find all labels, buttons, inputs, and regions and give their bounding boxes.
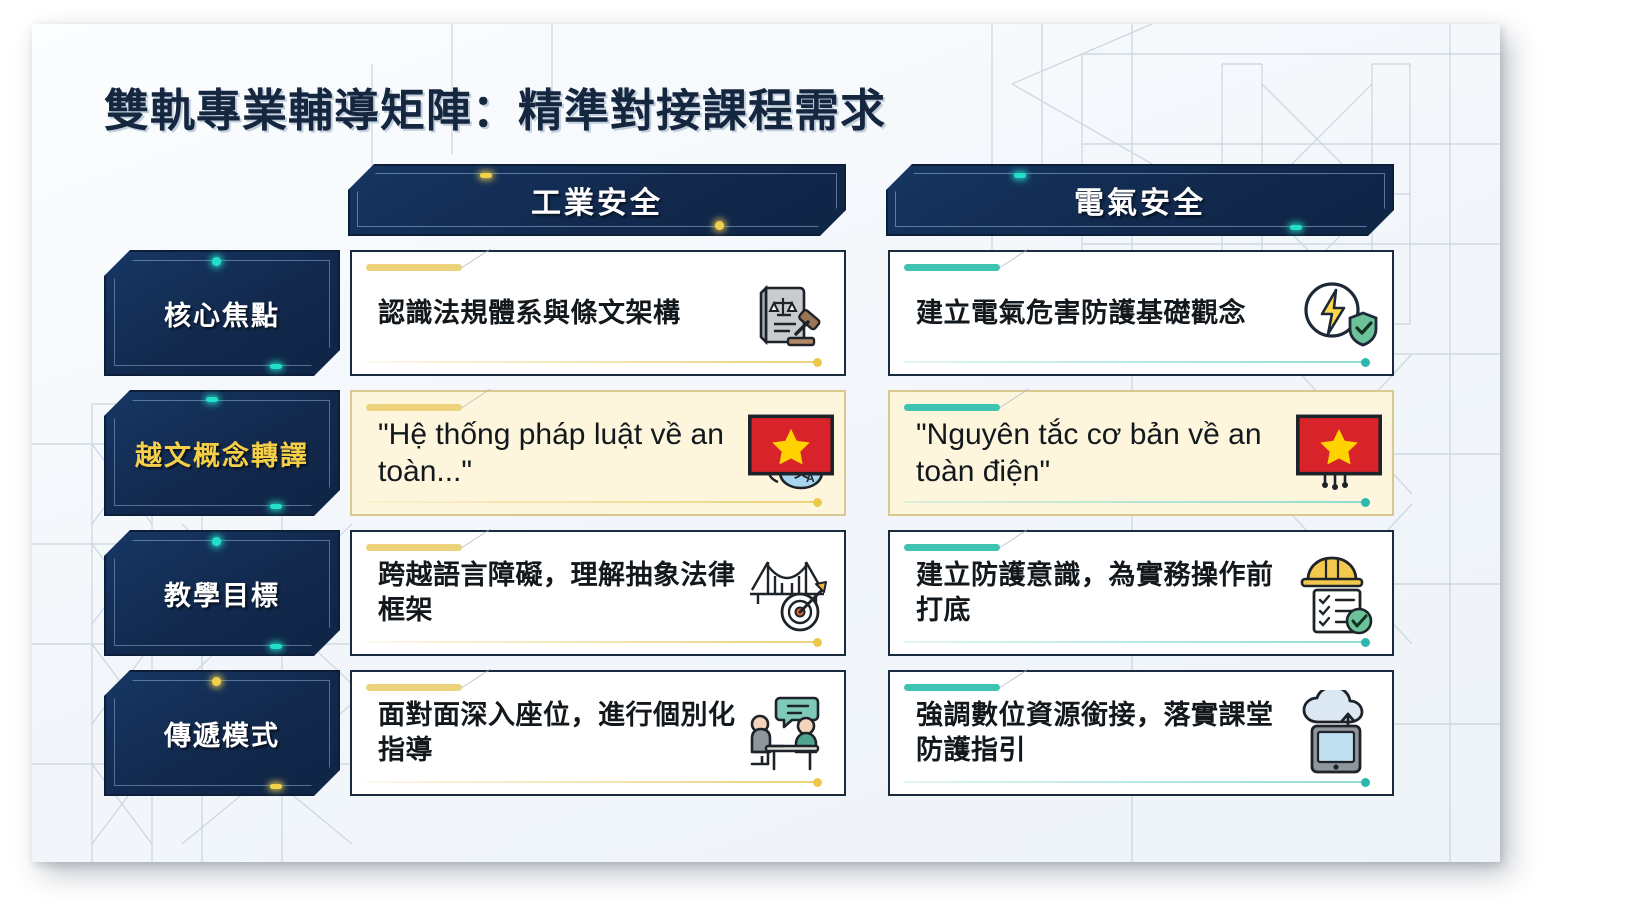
cell-text: 強調數位資源銜接，落實課堂防護指引	[916, 698, 1292, 767]
column-header-industrial-safety[interactable]: 工業安全	[348, 164, 846, 236]
accent-dot-teal	[1290, 225, 1302, 230]
row-label-teaching-goal[interactable]: 教學目標	[104, 530, 340, 656]
accent-dot-gold	[270, 784, 282, 789]
cell-core-focus-electrical[interactable]: 建立電氣危害防護基礎觀念	[888, 250, 1394, 376]
accent-dot-teal	[212, 257, 221, 266]
cell-text: 面對面深入座位，進行個別化指導	[378, 698, 744, 767]
accent-dot-teal	[270, 644, 282, 649]
row-label-text: 傳遞模式	[164, 714, 280, 753]
cell-underline	[904, 641, 1366, 643]
cell-delivery-mode-electrical[interactable]: 強調數位資源銜接，落實課堂防護指引	[888, 670, 1394, 796]
bridge-target-icon	[744, 550, 830, 636]
accent-dot-teal	[206, 397, 218, 402]
accent-dot-teal	[270, 504, 282, 509]
vietnam-flag-icon	[748, 402, 834, 488]
cell-accent-bar	[904, 404, 1000, 411]
cell-text: "Hệ thống pháp luật về an toàn..."	[378, 416, 744, 491]
cell-teaching-goal-industrial[interactable]: 跨越語言障礙，理解抽象法律框架	[350, 530, 846, 656]
row-label-text: 越文概念轉譯	[135, 434, 309, 473]
row-label-core-focus[interactable]: 核心焦點	[104, 250, 340, 376]
cell-delivery-mode-industrial[interactable]: 面對面深入座位，進行個別化指導	[350, 670, 846, 796]
row-label-delivery-mode[interactable]: 傳遞模式	[104, 670, 340, 796]
cell-text: 建立防護意識，為實務操作前打底	[916, 558, 1292, 627]
cell-vietnamese-electrical[interactable]: "Nguyên tắc cơ bản về an toàn điện"	[888, 390, 1394, 516]
cell-text: "Nguyên tắc cơ bản về an toàn điện"	[916, 416, 1292, 491]
law-book-gavel-icon	[744, 270, 830, 356]
cloud-tablet-icon	[1292, 690, 1378, 776]
column-header-label: 電氣安全	[1074, 178, 1206, 222]
cell-text: 認識法規體系與條文架構	[378, 296, 744, 331]
slide-canvas: 雙軌專業輔導矩陣：精準對接課程需求 工業安全 電氣安全 核心焦點 認識法規體系與…	[0, 0, 1628, 919]
row-label-text: 教學目標	[164, 574, 280, 613]
cell-teaching-goal-electrical[interactable]: 建立防護意識，為實務操作前打底	[888, 530, 1394, 656]
accent-dot-gold	[212, 677, 221, 686]
cell-accent-bar	[366, 684, 462, 691]
accent-dot-gold	[480, 173, 492, 178]
vietnam-flag-icon	[1296, 402, 1382, 488]
translate-bubbles-icon: 文 A	[744, 410, 830, 496]
slide-surface: 雙軌專業輔導矩陣：精準對接課程需求 工業安全 電氣安全 核心焦點 認識法規體系與…	[32, 24, 1500, 862]
cell-core-focus-industrial[interactable]: 認識法規體系與條文架構	[350, 250, 846, 376]
cell-underline	[366, 361, 818, 363]
column-header-electrical-safety[interactable]: 電氣安全	[886, 164, 1394, 236]
cell-underline	[366, 781, 818, 783]
face-to-face-coaching-icon	[744, 690, 830, 776]
cell-accent-bar	[366, 264, 462, 271]
cell-accent-bar	[366, 544, 462, 551]
cell-accent-bar	[904, 544, 1000, 551]
cell-vietnamese-industrial[interactable]: "Hệ thống pháp luật về an toàn..." 文 A	[350, 390, 846, 516]
cell-accent-bar	[904, 684, 1000, 691]
page-title: 雙軌專業輔導矩陣：精準對接課程需求	[104, 74, 886, 139]
electric-shield-icon	[1292, 270, 1378, 356]
cell-accent-bar	[904, 264, 1000, 271]
cell-text: 跨越語言障礙，理解抽象法律框架	[378, 558, 744, 627]
cell-underline	[904, 361, 1366, 363]
microchip-bolt-icon	[1292, 410, 1378, 496]
cell-underline	[366, 641, 818, 643]
row-label-vietnamese-translation[interactable]: 越文概念轉譯	[104, 390, 340, 516]
accent-dot-gold	[715, 221, 724, 230]
cell-underline	[904, 781, 1366, 783]
column-header-label: 工業安全	[531, 178, 663, 222]
accent-dot-teal	[212, 537, 221, 546]
helmet-checklist-icon	[1292, 550, 1378, 636]
cell-accent-bar	[366, 404, 462, 411]
cell-underline	[904, 501, 1366, 503]
accent-dot-teal	[270, 364, 282, 369]
row-label-text: 核心焦點	[164, 294, 280, 333]
accent-dot-teal	[1014, 173, 1026, 178]
cell-underline	[366, 501, 818, 503]
cell-text: 建立電氣危害防護基礎觀念	[916, 296, 1292, 331]
